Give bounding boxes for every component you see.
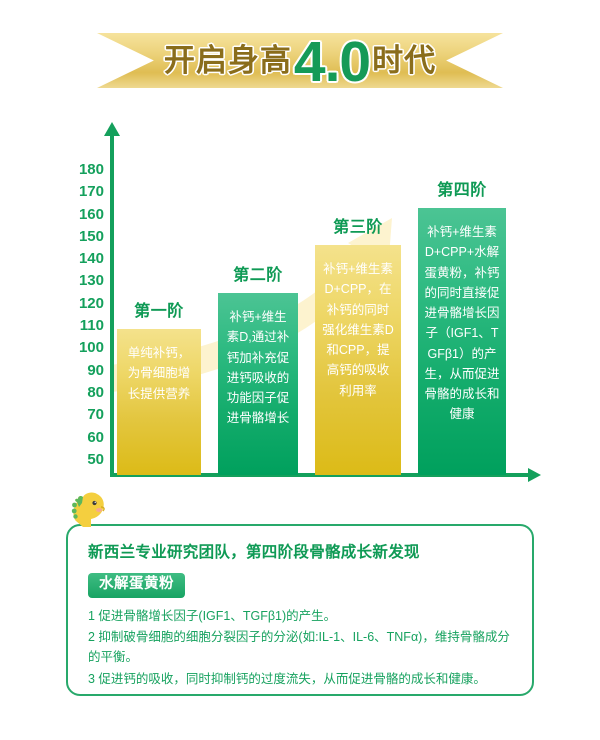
bar-text-stage-4: 补钙+维生素D+CPP+水解蛋黄粉，补钙的同时直接促进骨骼增长因子（IGF1、T… bbox=[424, 222, 500, 425]
info-panel-tag-badge: 水解蛋黄粉 bbox=[88, 573, 185, 598]
y-tick-label: 120 bbox=[56, 296, 104, 311]
y-axis-ticks: 180 170 160 150 140 130 120 110 100 90 8… bbox=[56, 162, 104, 467]
info-panel: 新西兰专业研究团队，第四阶段骨骼成长新发现 水解蛋黄粉 1 促进骨骼增长因子(I… bbox=[66, 524, 534, 696]
banner-prefix: 开启身高 bbox=[164, 45, 292, 76]
y-tick-label: 100 bbox=[56, 340, 104, 355]
banner-title: 开启身高 4.0 时代 bbox=[97, 33, 503, 88]
info-line-3: 3 促进钙的吸收，同时抑制钙的过度流失，从而促进骨骼的成长和健康。 bbox=[88, 670, 512, 690]
banner-number: 4.0 bbox=[294, 34, 370, 91]
bar-stage-2[interactable]: 补钙+维生素D,通过补钙加补充促进钙吸收的功能因子促进骨骼增长 bbox=[218, 293, 298, 475]
bar-text-stage-2: 补钙+维生素D,通过补钙加补充促进钙吸收的功能因子促进骨骼增长 bbox=[224, 307, 292, 429]
bar-text-stage-3: 补钙+维生素D+CPP，在补钙的同时强化维生素D和CPP，提高钙的吸收利用率 bbox=[321, 259, 395, 401]
y-tick-label: 150 bbox=[56, 229, 104, 244]
bar-stage-4[interactable]: 补钙+维生素D+CPP+水解蛋黄粉，补钙的同时直接促进骨骼增长因子（IGF1、T… bbox=[418, 208, 506, 475]
bar-group-stage-4[interactable]: 第四阶 补钙+维生素D+CPP+水解蛋黄粉，补钙的同时直接促进骨骼增长因子（IG… bbox=[418, 208, 506, 475]
bar-stage-3[interactable]: 补钙+维生素D+CPP，在补钙的同时强化维生素D和CPP，提高钙的吸收利用率 bbox=[315, 245, 401, 475]
growth-stage-bar-chart: 180 170 160 150 140 130 120 110 100 90 8… bbox=[0, 110, 600, 500]
y-tick-label: 80 bbox=[56, 385, 104, 400]
y-tick-label: 70 bbox=[56, 407, 104, 422]
bar-label-stage-2: 第二阶 bbox=[218, 268, 298, 284]
bar-label-stage-1: 第一阶 bbox=[117, 304, 201, 320]
info-panel-title: 新西兰专业研究团队，第四阶段骨骼成长新发现 bbox=[88, 544, 512, 563]
y-tick-label: 60 bbox=[56, 430, 104, 445]
x-axis-arrowhead bbox=[528, 468, 541, 482]
y-tick-label: 170 bbox=[56, 184, 104, 199]
y-tick-label: 140 bbox=[56, 251, 104, 266]
info-line-2: 2 抑制破骨细胞的细胞分裂因子的分泌(如:IL-1、IL-6、TNFα)，维持骨… bbox=[88, 628, 512, 668]
bar-label-stage-3: 第三阶 bbox=[315, 220, 401, 236]
y-tick-label: 180 bbox=[56, 162, 104, 177]
bar-group-stage-1[interactable]: 第一阶 单纯补钙，为骨细胞增长提供营养 bbox=[117, 329, 201, 475]
banner-suffix: 时代 bbox=[372, 45, 436, 76]
dinosaur-mascot-icon bbox=[70, 487, 110, 529]
bar-group-stage-2[interactable]: 第二阶 补钙+维生素D,通过补钙加补充促进钙吸收的功能因子促进骨骼增长 bbox=[218, 293, 298, 475]
y-tick-label: 160 bbox=[56, 207, 104, 222]
bar-label-stage-4: 第四阶 bbox=[418, 183, 506, 199]
y-tick-label: 110 bbox=[56, 318, 104, 333]
bar-group-stage-3[interactable]: 第三阶 补钙+维生素D+CPP，在补钙的同时强化维生素D和CPP，提高钙的吸收利… bbox=[315, 245, 401, 475]
y-tick-label: 90 bbox=[56, 363, 104, 378]
y-tick-label: 130 bbox=[56, 273, 104, 288]
y-tick-label: 50 bbox=[56, 452, 104, 467]
info-line-1: 1 促进骨骼增长因子(IGF1、TGFβ1)的产生。 bbox=[88, 607, 512, 627]
bar-text-stage-1: 单纯补钙，为骨细胞增长提供营养 bbox=[123, 343, 195, 404]
bar-stage-1[interactable]: 单纯补钙，为骨细胞增长提供营养 bbox=[117, 329, 201, 475]
banner-ribbon: 开启身高 4.0 时代 bbox=[0, 0, 600, 110]
y-axis-line bbox=[110, 133, 114, 475]
